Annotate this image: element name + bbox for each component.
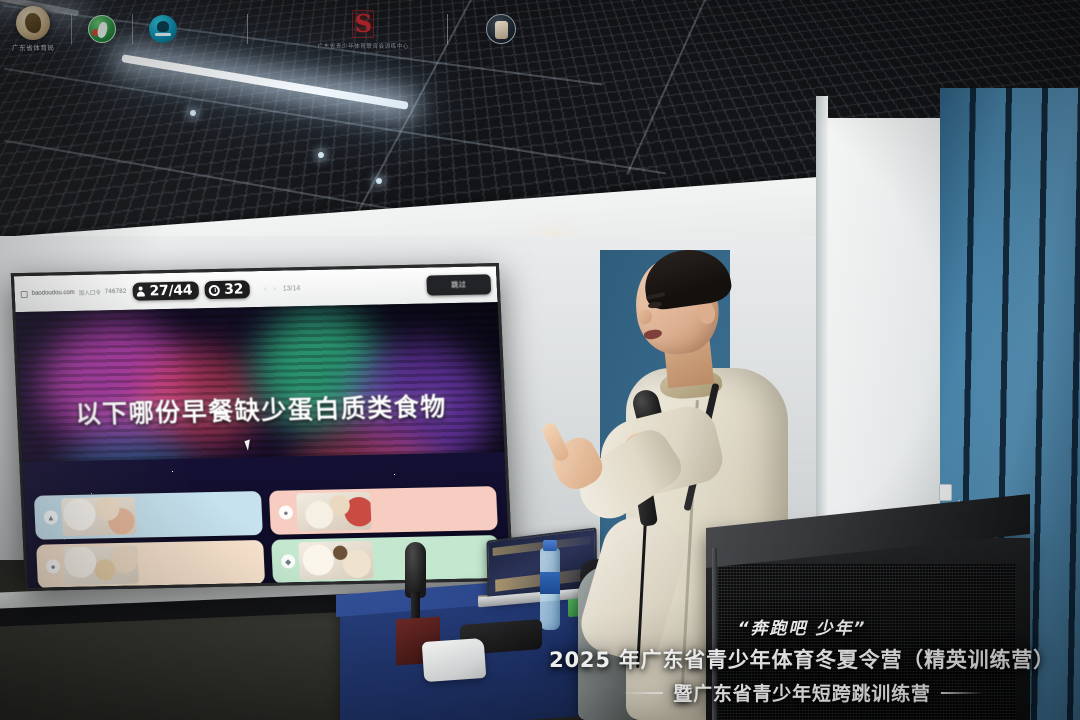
red-s-emblem-frame bbox=[352, 10, 374, 38]
ceiling-fixture-dot bbox=[318, 152, 324, 158]
logo-divider bbox=[247, 14, 248, 44]
option-c-badge: ● bbox=[46, 559, 61, 573]
event-subtitle: 暨广东省青少年短跨跳训练营 bbox=[673, 679, 930, 706]
logo-caption: 广东省体育局 bbox=[12, 42, 55, 52]
quiz-options-grid: ▲ ● ● ◆ bbox=[34, 486, 500, 588]
ceiling-fixture-dot bbox=[190, 110, 196, 116]
slide-pager[interactable]: ‹ › 13/14 bbox=[264, 285, 301, 293]
quiz-option-c[interactable]: ● bbox=[36, 540, 265, 588]
timer-value: 32 bbox=[224, 282, 244, 296]
url-host: baodoudou.com bbox=[32, 290, 75, 297]
tissue-paper bbox=[422, 638, 487, 682]
desk-microphone-head bbox=[405, 542, 426, 598]
logo-teal-circular-emblem bbox=[149, 15, 177, 43]
logo-caption: 广东省青少年体育联合会训练中心 bbox=[318, 42, 410, 50]
url-join-label: 加入口令 bbox=[79, 288, 101, 296]
page-indicator: 13/14 bbox=[283, 285, 301, 292]
option-a-body bbox=[135, 494, 258, 534]
quiz-slide: 以下哪份早餐缺少蛋白质类食物 ▲ ● ● bbox=[16, 302, 511, 588]
url-join-code: 746782 bbox=[105, 289, 127, 295]
logo-green-running-emblem bbox=[88, 15, 116, 43]
participant-count-value: 27/44 bbox=[149, 283, 192, 298]
clock-icon bbox=[209, 284, 220, 295]
person-icon bbox=[136, 286, 145, 297]
quiz-option-b[interactable]: ● bbox=[269, 486, 498, 535]
option-b-thumbnail bbox=[296, 492, 372, 532]
event-subtitle-row: 暨广东省青少年短跨跳训练营 bbox=[542, 679, 1062, 706]
logo-dark-circular-badge bbox=[486, 14, 516, 44]
green-running-emblem-icon bbox=[88, 15, 116, 43]
logo-red-s-emblem: S 广东省青少年体育联合会训练中心 bbox=[318, 8, 410, 50]
option-c-body bbox=[137, 543, 260, 583]
option-c-thumbnail bbox=[63, 546, 139, 586]
quiz-option-d[interactable]: ◆ bbox=[271, 535, 500, 584]
projection-screen: baodoudou.com 加入口令 746782 27/44 32 ‹ › 1… bbox=[11, 263, 513, 591]
prev-slide-icon[interactable]: ‹ bbox=[264, 285, 267, 292]
title-rule-left bbox=[621, 692, 663, 694]
lock-icon bbox=[21, 290, 28, 297]
teal-emblem-bar bbox=[155, 33, 171, 36]
option-b-badge: ● bbox=[279, 505, 294, 519]
url-bar[interactable]: baodoudou.com 加入口令 746782 bbox=[21, 288, 127, 298]
skip-button-label: 跳过 bbox=[451, 280, 466, 290]
option-d-badge: ◆ bbox=[281, 554, 296, 568]
option-d-body bbox=[372, 538, 495, 578]
projection-screen-content: baodoudou.com 加入口令 746782 27/44 32 ‹ › 1… bbox=[14, 266, 510, 588]
next-slide-icon[interactable]: › bbox=[273, 285, 276, 292]
sponsor-logo-bar: 广东省体育局 S 广东省青少年体育联合会训练中心 bbox=[0, 0, 1080, 58]
red-s-emblem-icon: S bbox=[350, 8, 376, 40]
event-photo-screenshot: baodoudou.com 加入口令 746782 27/44 32 ‹ › 1… bbox=[0, 0, 1080, 720]
event-slogan: “奔跑吧 少年” bbox=[542, 614, 1062, 639]
option-b-body bbox=[370, 489, 493, 529]
title-rule-right bbox=[941, 692, 983, 694]
quiz-option-a[interactable]: ▲ bbox=[34, 491, 263, 540]
event-title-main: 2025 年广东省青少年体育冬夏令营（精英训练营） bbox=[542, 644, 1062, 674]
logo-divider bbox=[132, 14, 133, 44]
dark-circular-badge-icon bbox=[486, 14, 516, 44]
logo-divider bbox=[447, 14, 448, 44]
event-title-overlay: “奔跑吧 少年” 2025 年广东省青少年体育冬夏令营（精英训练营） 暨广东省青… bbox=[542, 614, 1062, 706]
wall-power-outlet bbox=[939, 484, 952, 501]
green-emblem-dot bbox=[92, 29, 99, 36]
dark-badge-inner bbox=[498, 24, 505, 37]
timer-badge: 32 bbox=[205, 280, 251, 299]
skip-button[interactable]: 跳过 bbox=[426, 274, 491, 295]
option-a-thumbnail bbox=[61, 497, 137, 537]
option-d-thumbnail bbox=[298, 541, 374, 581]
logo-divider bbox=[71, 14, 72, 44]
teal-circular-emblem-icon bbox=[149, 15, 177, 43]
participant-count-badge: 27/44 bbox=[132, 281, 199, 300]
logo-guangdong-sports-bureau: 广东省体育局 bbox=[12, 6, 55, 52]
option-a-badge: ▲ bbox=[44, 510, 59, 524]
ceiling-fixture-dot bbox=[376, 178, 382, 184]
guangdong-sports-bureau-icon bbox=[16, 6, 50, 40]
